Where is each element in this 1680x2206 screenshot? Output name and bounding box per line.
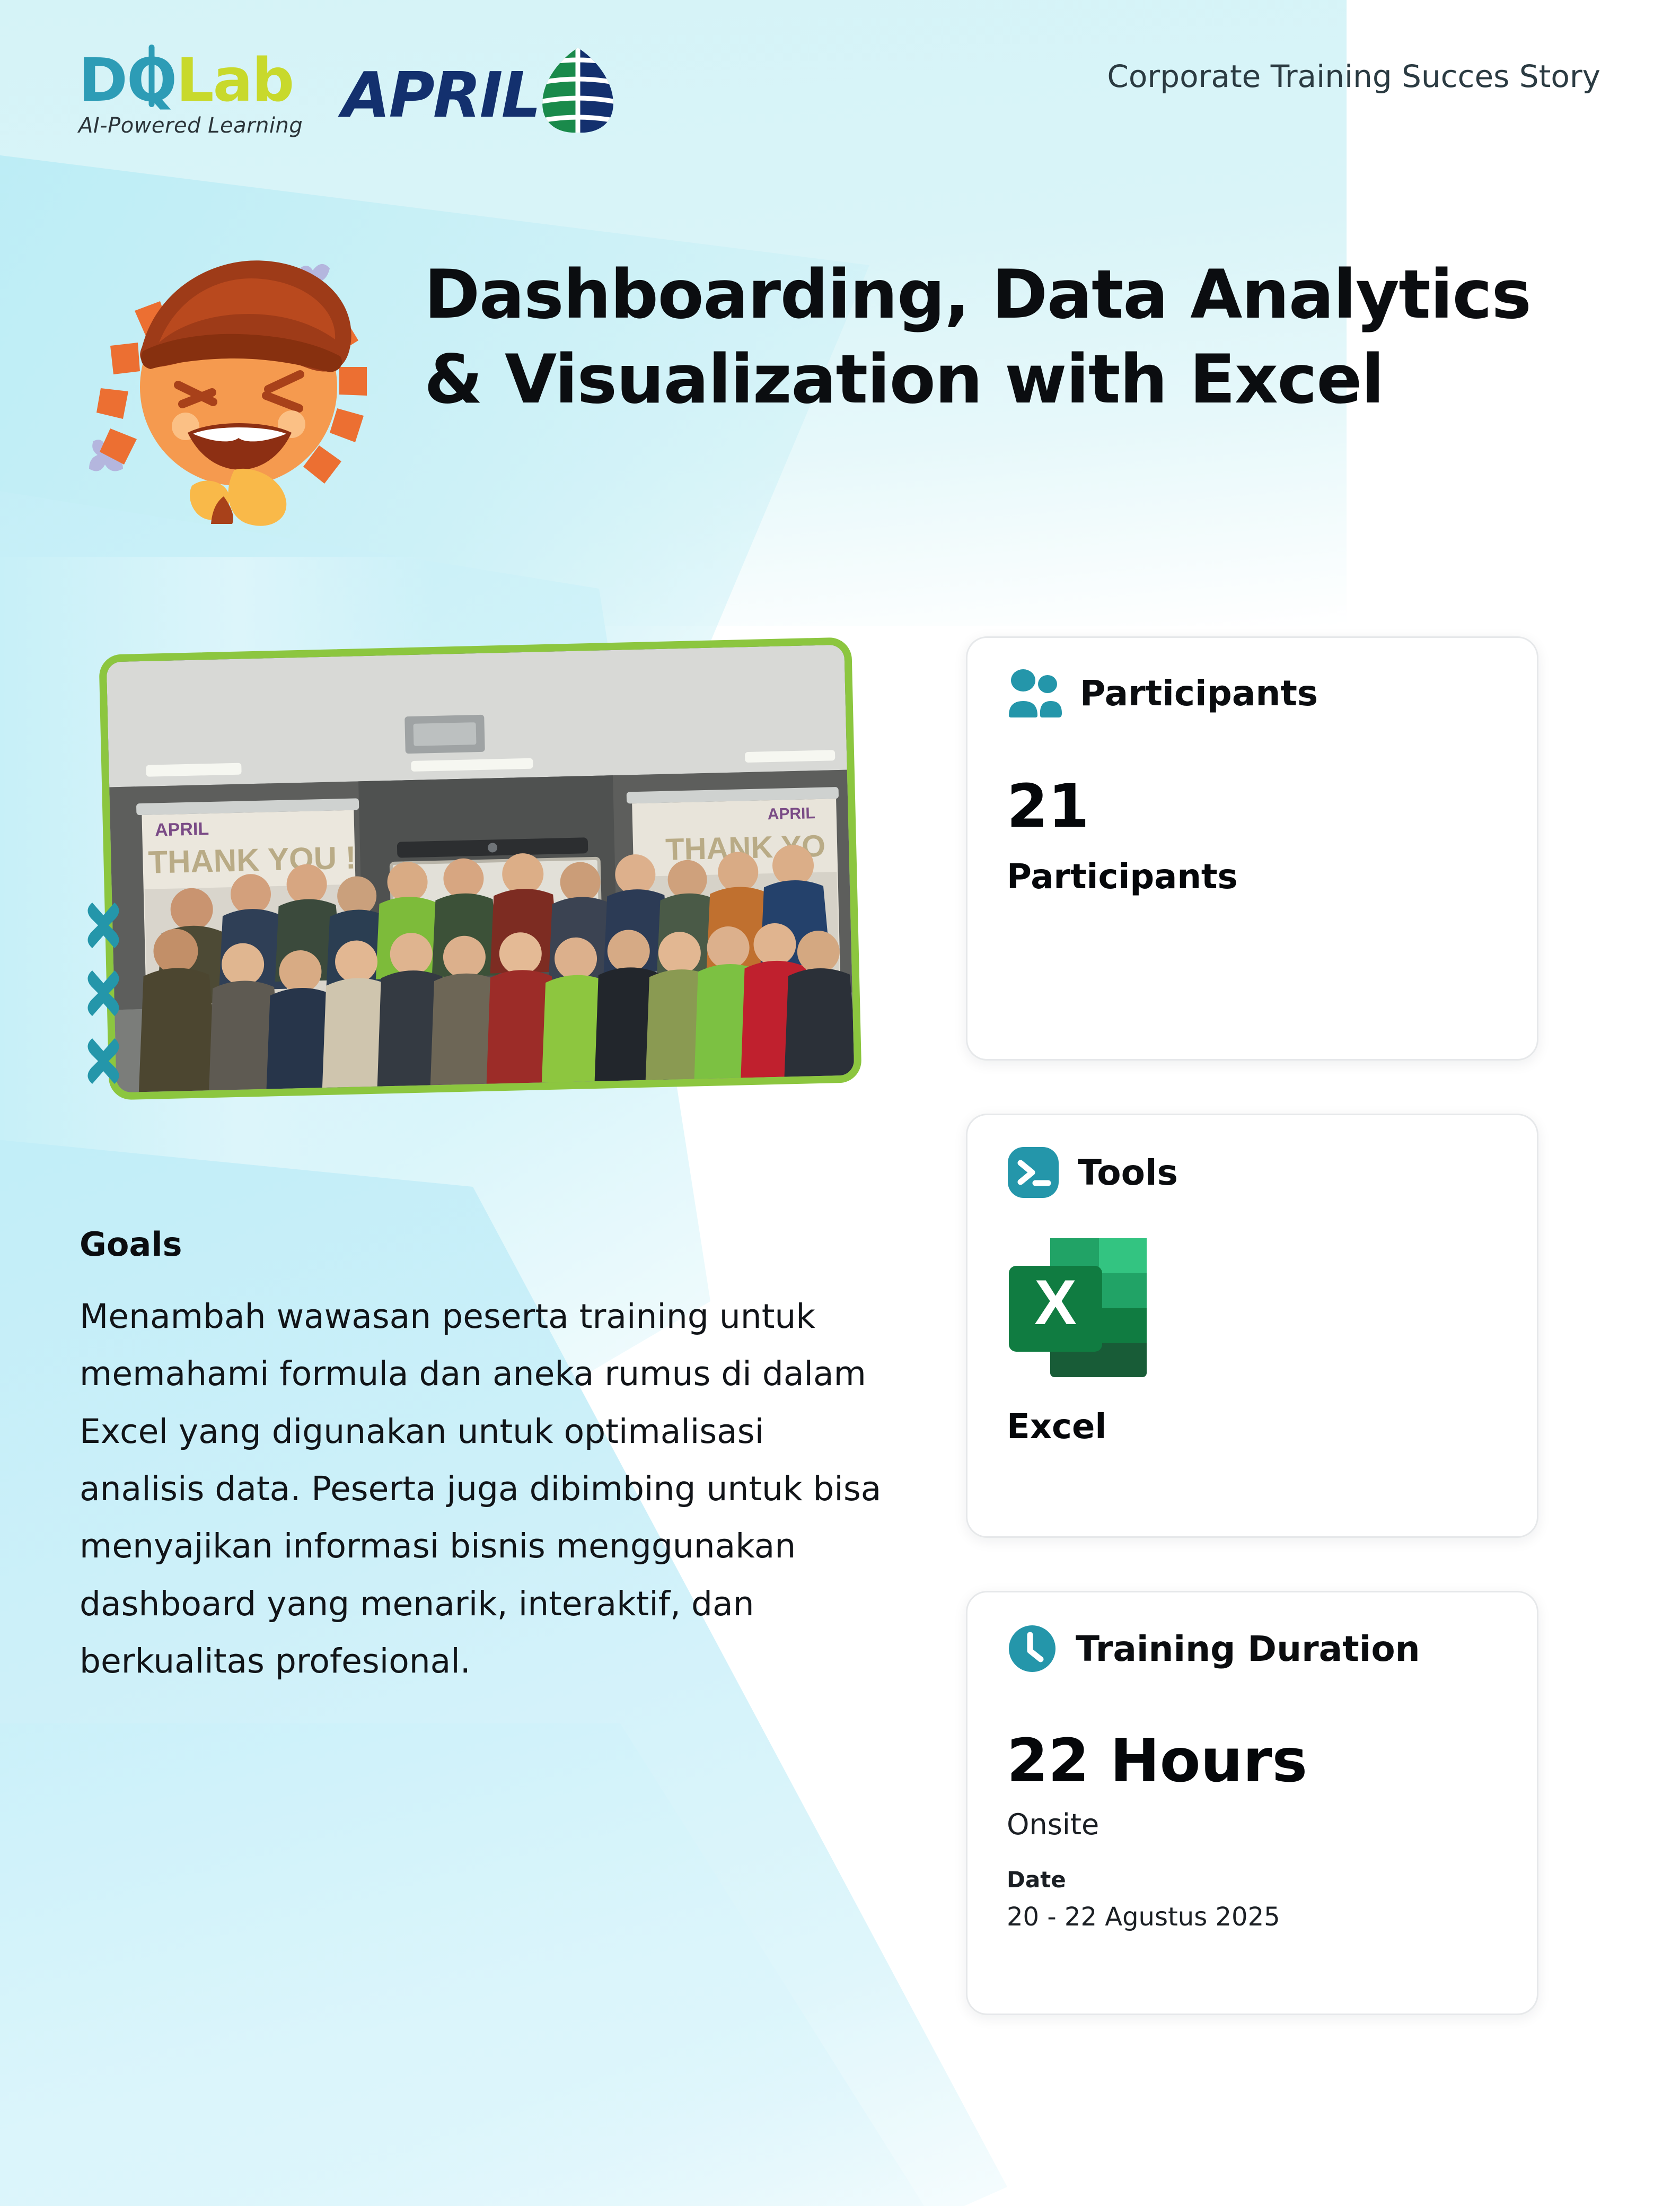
dqlab-letter-q: Q <box>127 51 176 110</box>
x-decor-icon <box>74 896 133 955</box>
training-photo-illustration: THANK YOU ! APRIL THANK YO APRIL <box>107 645 855 1093</box>
april-leaf-icon <box>535 46 620 135</box>
tools-card: Tools X Excel <box>966 1114 1538 1538</box>
terminal-icon <box>1007 1146 1060 1199</box>
dqlab-tagline: AI-Powered Learning <box>78 113 303 138</box>
x-decor-icon <box>74 1032 133 1090</box>
svg-text:APRIL: APRIL <box>155 819 209 840</box>
page-title-line-1: Dashboarding, Data Analytics <box>424 252 1531 337</box>
april-wordmark: APRIL <box>342 64 540 126</box>
duration-card: Training Duration 22 Hours Onsite Date 2… <box>966 1591 1538 2015</box>
hero-section: Dashboarding, Data Analytics & Visualiza… <box>0 223 1680 551</box>
april-logo: APRIL <box>342 52 620 135</box>
tools-card-title: Tools <box>1078 1152 1178 1193</box>
svg-text:APRIL: APRIL <box>767 804 815 823</box>
people-icon <box>1007 669 1062 717</box>
goals-heading: Goals <box>80 1225 885 1264</box>
excel-icon: X <box>1007 1236 1149 1379</box>
duration-hours: 22 Hours <box>1007 1731 1498 1791</box>
dqlab-logo: DQLab AI-Powered Learning <box>78 51 303 138</box>
participants-card: Participants 21 Participants <box>966 636 1538 1061</box>
header-kicker: Corporate Training Succes Story <box>1107 58 1600 94</box>
participants-count: 21 <box>1007 777 1498 836</box>
sun-mascot-icon <box>80 233 398 530</box>
tools-card-header: Tools <box>1007 1146 1498 1199</box>
dqlab-letters-lab: Lab <box>176 46 293 115</box>
duration-card-header: Training Duration <box>1007 1623 1498 1674</box>
goals-body-text: Menambah wawasan peserta training untuk … <box>80 1288 885 1691</box>
svg-text:X: X <box>1034 1267 1077 1338</box>
participants-card-title: Participants <box>1080 673 1318 714</box>
tool-entry: X Excel <box>1007 1236 1498 1447</box>
page-title: Dashboarding, Data Analytics & Visualiza… <box>424 252 1531 422</box>
training-photo: THANK YOU ! APRIL THANK YO APRIL <box>107 645 855 1093</box>
participants-card-header: Participants <box>1007 669 1498 717</box>
page-header: DQLab AI-Powered Learning APRIL <box>0 0 1680 159</box>
tool-name-label: Excel <box>1007 1407 1498 1447</box>
duration-date-value: 20 - 22 Agustus 2025 <box>1007 1902 1498 1932</box>
page-title-line-2: & Visualization with Excel <box>424 337 1531 422</box>
clock-icon <box>1007 1623 1058 1674</box>
participants-unit-label: Participants <box>1007 857 1498 897</box>
goals-section: Goals Menambah wawasan peserta training … <box>80 1225 885 1691</box>
poster-canvas: DQLab AI-Powered Learning APRIL <box>0 0 1680 2206</box>
duration-date-label: Date <box>1007 1867 1498 1893</box>
dqlab-wordmark: DQLab <box>78 51 303 110</box>
x-decoration-group <box>74 896 133 1100</box>
x-decor-icon <box>74 964 133 1022</box>
duration-mode: Onsite <box>1007 1808 1498 1841</box>
training-photo-frame: THANK YOU ! APRIL THANK YO APRIL <box>99 637 861 1100</box>
dqlab-letter-d: D <box>78 46 127 115</box>
duration-card-title: Training Duration <box>1076 1629 1420 1669</box>
